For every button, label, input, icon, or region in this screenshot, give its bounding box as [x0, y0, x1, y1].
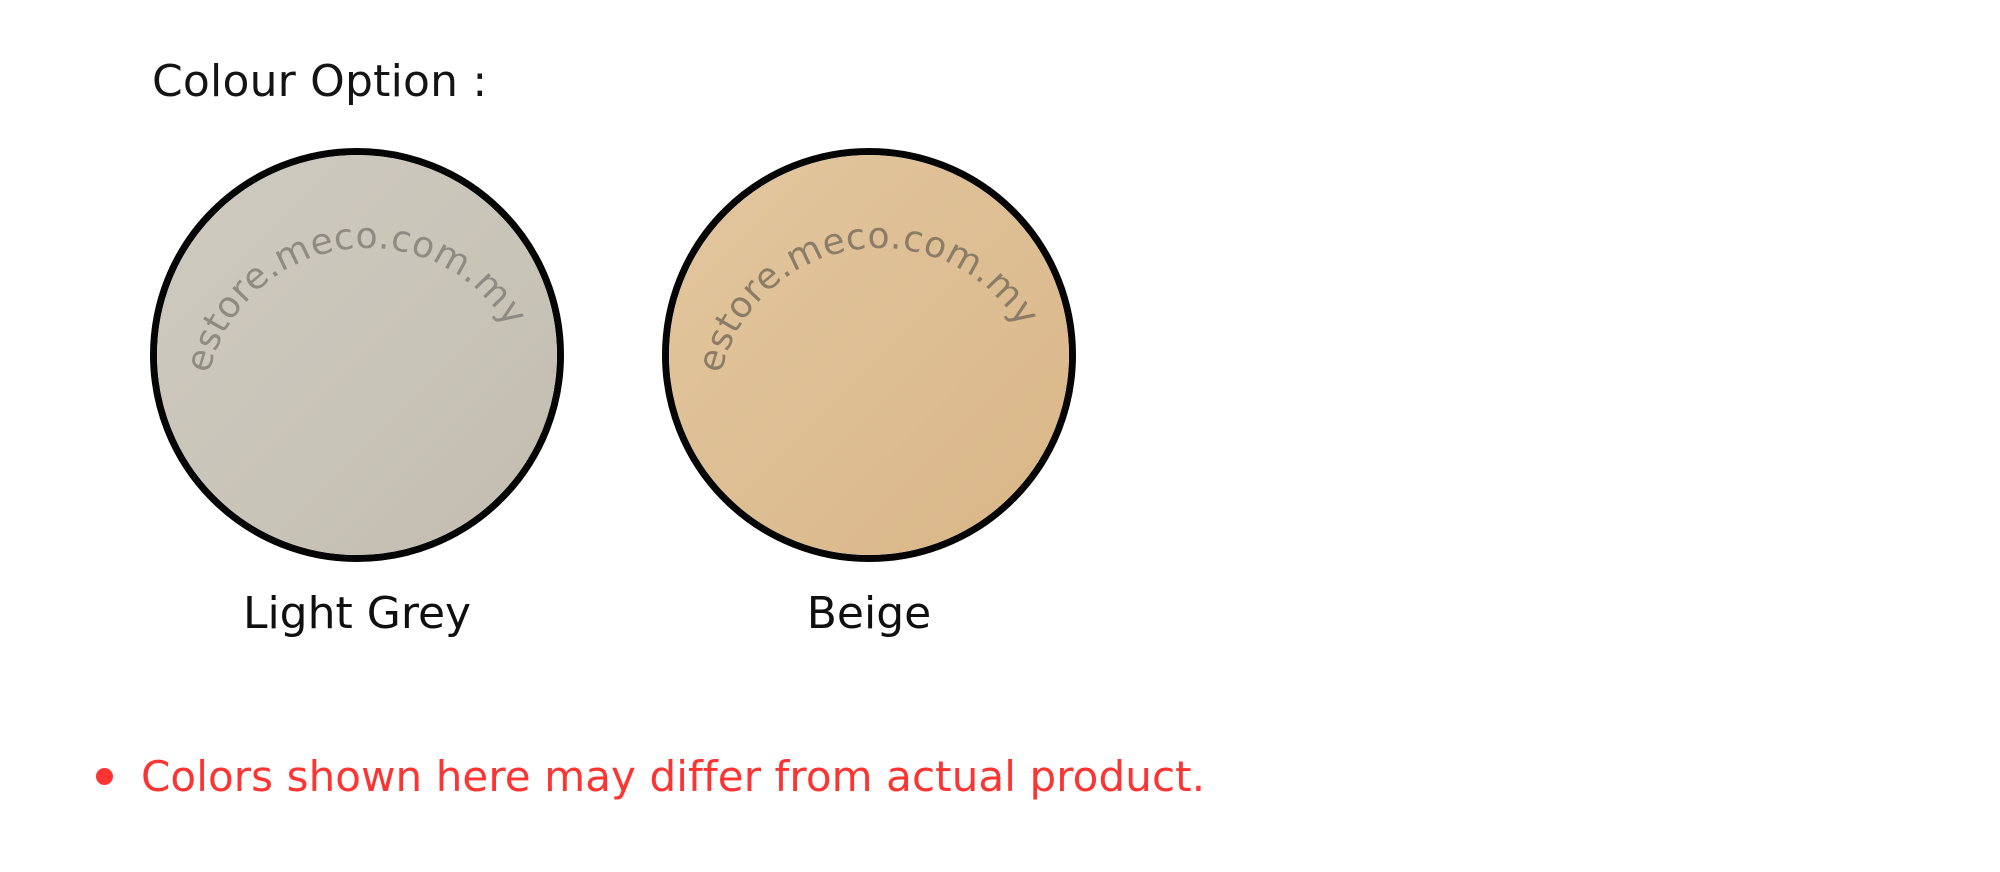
colour-fill — [669, 155, 1069, 555]
list-item: Colors shown here may differ from actual… — [96, 752, 1205, 801]
page-title: Colour Option : — [152, 56, 487, 107]
colour-fill — [157, 155, 557, 555]
disclaimer-list: Colors shown here may differ from actual… — [96, 752, 1205, 801]
swatch-label: Light Grey — [243, 588, 471, 639]
colour-option-panel: Colour Option : estore.meco.com.my Light… — [0, 0, 2000, 872]
colour-circle[interactable] — [662, 148, 1076, 562]
colour-circle[interactable] — [150, 148, 564, 562]
colour-swatch-light-grey[interactable]: estore.meco.com.my Light Grey — [150, 148, 564, 639]
swatch-circle-wrapper[interactable]: estore.meco.com.my — [150, 148, 564, 562]
colour-swatch-list: estore.meco.com.my Light Grey estore.mec… — [150, 148, 1076, 639]
bullet-dot-icon — [96, 768, 113, 785]
disclaimer-text: Colors shown here may differ from actual… — [141, 752, 1205, 801]
colour-swatch-beige[interactable]: estore.meco.com.my Beige — [662, 148, 1076, 639]
swatch-label: Beige — [807, 588, 931, 639]
swatch-circle-wrapper[interactable]: estore.meco.com.my — [662, 148, 1076, 562]
